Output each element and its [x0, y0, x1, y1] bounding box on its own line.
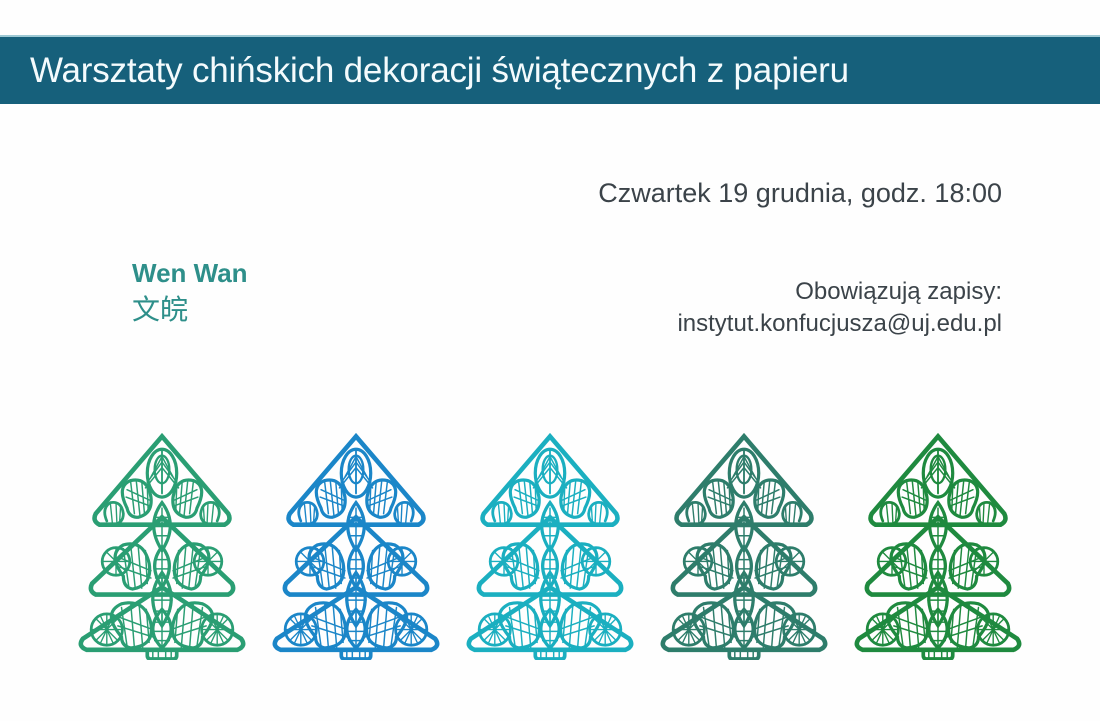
signup-label: Obowiązują zapisy:: [0, 276, 1002, 308]
header-band: Warsztaty chińskich dekoracji świąteczny…: [0, 35, 1100, 104]
papercut-tree-row: [70, 424, 1030, 660]
page-title: Warsztaty chińskich dekoracji świąteczny…: [0, 53, 849, 88]
papercut-tree-icon-2: [264, 428, 448, 660]
papercut-tree-icon-4: [652, 428, 836, 660]
signup-block: Obowiązują zapisy: instytut.konfucjusza@…: [0, 276, 1002, 339]
poster-canvas: Warsztaty chińskich dekoracji świąteczny…: [0, 0, 1100, 721]
papercut-tree-icon-3: [458, 428, 642, 660]
signup-email: instytut.konfucjusza@uj.edu.pl: [0, 308, 1002, 340]
papercut-tree-icon-5: [846, 428, 1030, 660]
papercut-tree-icon-1: [70, 428, 254, 660]
event-date-time: Czwartek 19 grudnia, godz. 18:00: [0, 178, 1002, 209]
